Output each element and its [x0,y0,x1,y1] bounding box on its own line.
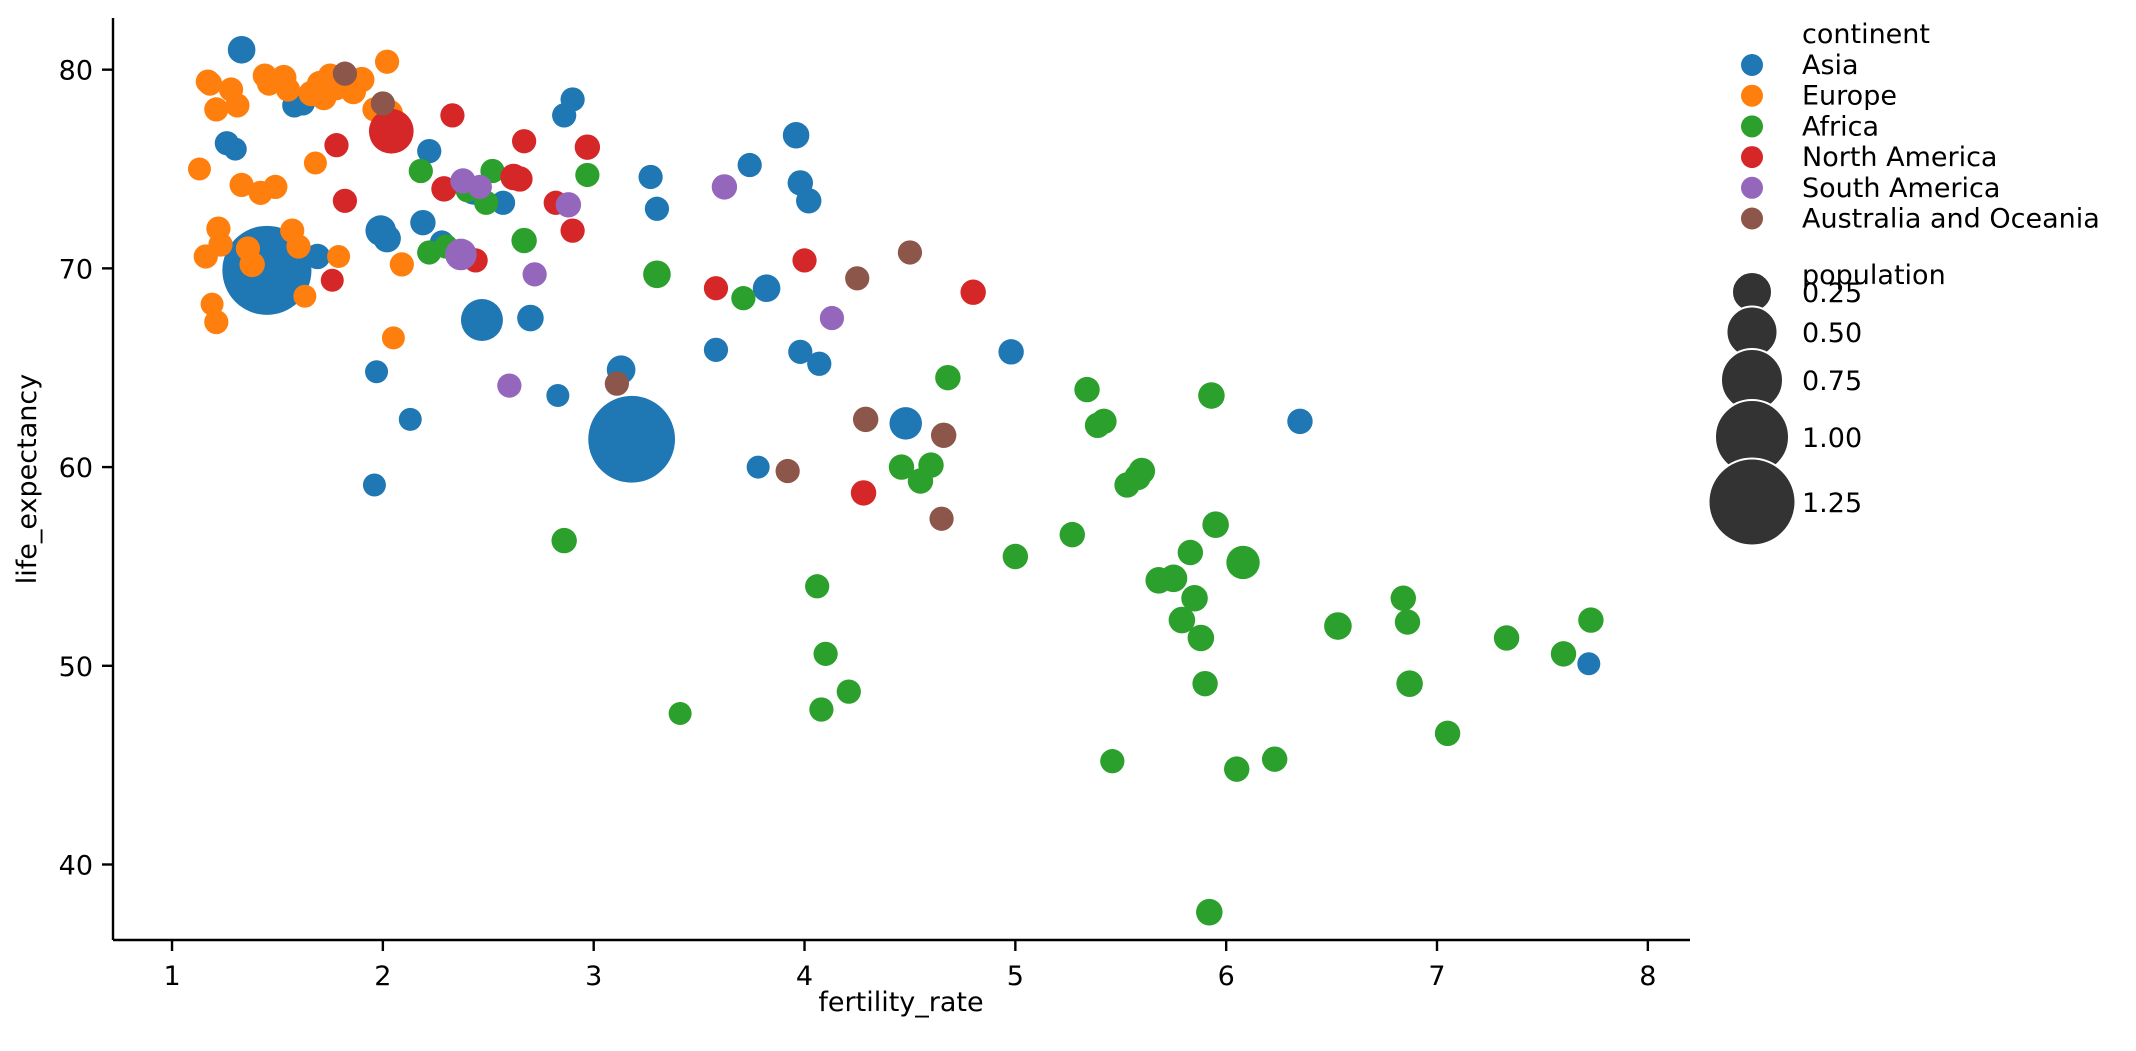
data-point [1202,511,1229,538]
size-legend-label: 0.25 [1802,278,1862,309]
legend-swatch-icon [1741,115,1763,137]
data-point [512,129,536,153]
legend-title-continent: continent [1802,19,1930,50]
y-tick-label: 60 [59,453,93,484]
scatter-plot-figure: 12345678 4050607080 continentAsiaEuropeA… [0,0,2136,1051]
data-point [497,373,521,397]
data-point [575,134,600,159]
legend-swatch-icon [1741,177,1763,199]
x-tick-label: 3 [585,961,602,992]
data-point [333,62,357,86]
size-legend-label: 0.75 [1802,366,1862,397]
data-point [239,252,264,277]
data-point [605,372,629,396]
data-point [643,261,671,289]
data-point [324,133,348,157]
x-tick-label: 7 [1428,961,1445,992]
data-point [225,93,249,117]
data-point [809,697,833,721]
data-point [523,262,547,286]
data-point [753,274,781,302]
data-point [511,228,536,253]
data-point [998,339,1023,364]
data-point [382,326,405,349]
data-point [1100,749,1124,773]
data-point [390,252,414,276]
data-point [1577,652,1600,675]
data-point [409,159,433,183]
data-point [960,280,985,305]
legend-swatch-icon [1741,146,1763,168]
data-point [931,423,956,448]
data-point [375,50,399,74]
data-point [1395,609,1420,634]
data-point [410,210,435,235]
data-point [738,153,762,177]
data-point [792,248,816,272]
size-legend-item-1-25[interactable]: 1.25 [1709,459,1863,546]
data-point [898,240,922,264]
data-point [1262,746,1287,771]
data-point [276,77,300,101]
data-points-layer [188,36,1604,925]
data-point [1178,540,1203,565]
size-legend-label: 1.00 [1802,423,1862,454]
legend-layer: continentAsiaEuropeAfricaNorth AmericaSo… [1709,19,2100,546]
data-point [507,166,532,191]
data-point [889,407,922,440]
data-point [853,407,878,432]
legend-swatch-icon [1741,208,1763,230]
data-point [935,365,960,390]
legend-swatch-icon [1741,54,1763,76]
data-point [1224,756,1249,781]
data-point [807,352,831,376]
data-point [1494,625,1519,650]
data-point [556,192,581,217]
data-point [304,152,327,175]
y-tick-label: 70 [59,254,93,285]
x-axis-label: fertility_rate [818,987,983,1018]
data-point [399,408,422,431]
y-tick-label: 50 [59,652,93,683]
data-point [1188,625,1215,652]
data-point [1003,544,1028,569]
data-point [365,360,388,383]
data-point [373,225,401,253]
data-point [224,138,247,161]
data-point [820,306,844,330]
legend-label: South America [1802,173,2000,204]
data-point [1396,670,1423,697]
x-tick-label: 5 [1007,961,1024,992]
data-point [194,244,218,268]
data-point [588,396,675,483]
data-point [1435,721,1460,746]
legend-label: Africa [1802,111,1879,142]
data-point [1129,458,1156,485]
data-point [805,574,829,598]
data-point [204,310,228,334]
legend-item-south-america[interactable]: South America [1741,173,2000,204]
series-africa [409,159,1604,926]
data-point [776,459,800,483]
data-point [198,71,222,95]
data-point [188,158,211,181]
data-point [669,702,692,725]
data-point [645,197,669,221]
data-point [796,188,821,213]
data-point [1181,585,1208,612]
data-point [783,122,810,149]
data-point [638,165,662,189]
data-point [929,507,953,531]
x-tick-label: 2 [374,961,391,992]
data-point [1160,565,1188,593]
legend-label: North America [1802,142,1997,173]
data-point [517,305,544,332]
data-point [1060,522,1085,547]
data-point [845,266,869,290]
data-point [327,245,350,268]
y-tick-label: 80 [59,56,93,87]
data-point [440,103,464,127]
data-point [551,528,576,553]
legend-item-asia[interactable]: Asia [1741,50,1859,81]
data-point [837,680,861,704]
size-legend-bubble-icon [1709,459,1796,546]
y-axis-ticks: 4050607080 [59,56,113,882]
data-point [731,286,755,310]
x-tick-label: 6 [1218,961,1235,992]
data-point [1196,899,1223,926]
data-point [747,456,770,479]
data-point [1391,586,1416,611]
y-tick-label: 40 [59,850,93,881]
data-point [1074,377,1099,402]
plot-canvas: 12345678 4050607080 continentAsiaEuropeA… [0,0,2136,1051]
data-point [1551,641,1576,666]
data-point [321,269,344,292]
data-point [1091,409,1116,434]
legend-item-north-america[interactable]: North America [1741,142,1997,173]
data-point [363,473,386,496]
data-point [461,299,503,341]
data-point [333,189,357,213]
data-point [560,87,584,111]
data-point [712,174,737,199]
data-point [704,338,728,362]
data-point [918,452,943,477]
data-point [293,285,316,308]
x-tick-label: 8 [1639,961,1656,992]
data-point [263,175,287,199]
data-point [546,384,569,407]
data-point [560,219,584,243]
data-point [286,234,310,258]
legend-item-australia-and-oceania[interactable]: Australia and Oceania [1741,204,2100,235]
data-point [369,109,414,154]
x-tick-label: 4 [796,961,813,992]
y-axis-label: life_expectancy [12,374,43,584]
data-point [1287,409,1312,434]
data-point [204,97,228,121]
size-legend-label: 1.25 [1802,488,1862,519]
data-point [1198,382,1225,409]
data-point [704,276,728,300]
legend-label: Asia [1802,50,1859,81]
x-tick-label: 1 [163,961,180,992]
data-point [445,239,477,271]
size-legend-label: 0.50 [1802,318,1862,349]
data-point [1226,546,1259,579]
x-axis-ticks: 12345678 [163,940,1656,992]
data-point [575,163,599,187]
data-point [228,36,256,64]
data-point [813,642,837,666]
data-point [371,91,395,115]
data-point [851,480,876,505]
legend-item-africa[interactable]: Africa [1741,111,1879,142]
data-point [1324,612,1352,640]
legend-swatch-icon [1741,85,1763,107]
legend-label: Australia and Oceania [1802,204,2100,235]
legend-label: Europe [1802,81,1897,112]
legend-item-europe[interactable]: Europe [1741,81,1897,112]
data-point [1578,607,1603,632]
data-point [468,175,492,199]
series-asia [215,36,1601,675]
data-point [1192,671,1217,696]
